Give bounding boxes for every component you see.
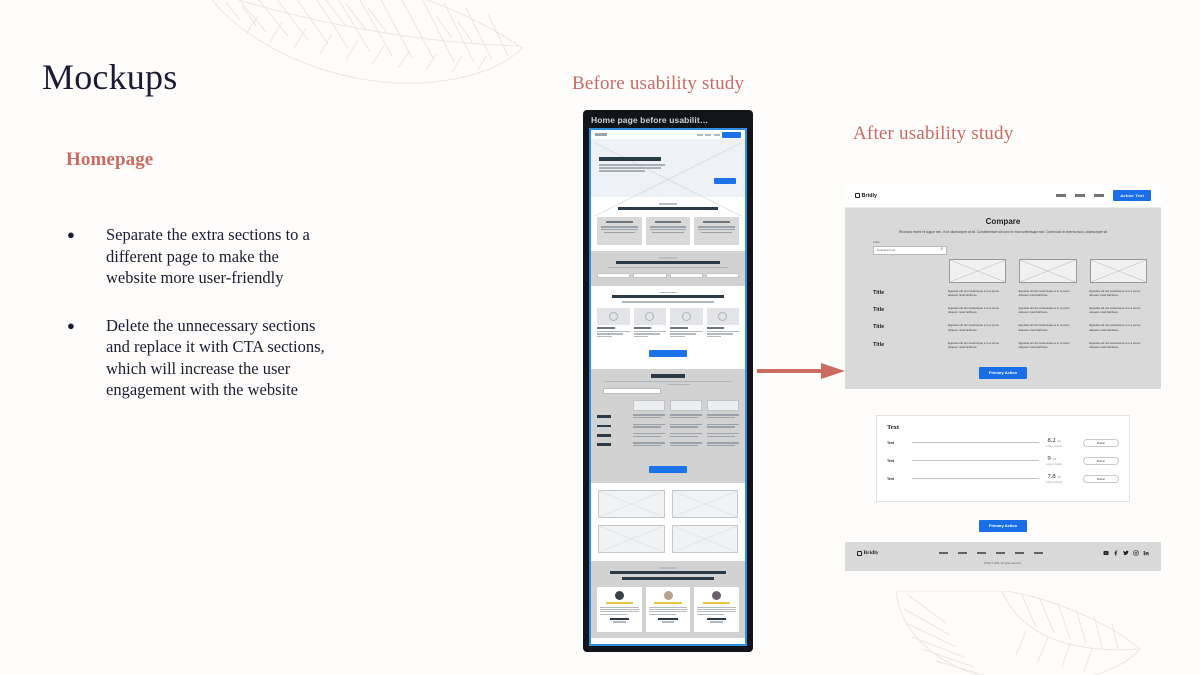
stat-row: Text 8.2/10 subject statistic Button <box>887 437 1119 448</box>
after-footer: Bridly Bridly © 2021. All rights reserve… <box>845 542 1161 571</box>
leaf-decoration-bottom <box>876 591 1156 675</box>
after-nav-bar: Bridly Action Text <box>845 184 1161 208</box>
stat-button[interactable]: Button <box>1083 475 1119 483</box>
footer-link[interactable] <box>977 552 986 555</box>
wf-compare-image <box>707 400 739 411</box>
list-item: ● Delete the unnecessary sections and re… <box>60 315 390 401</box>
table-cell: Egestas elit dui scelerisque a in a puru… <box>1089 323 1147 331</box>
section-gap <box>845 389 1161 415</box>
wf-cta-section <box>591 638 745 646</box>
after-nav-link[interactable] <box>1056 194 1066 197</box>
after-nav-link[interactable] <box>1075 194 1085 197</box>
wf-icon-cards <box>591 304 745 340</box>
table-row: Title Egestas elit dui scelerisque a in … <box>873 323 1147 331</box>
wf-feature-card <box>646 217 691 245</box>
footer-link[interactable] <box>1034 552 1043 555</box>
stat-unit: /10 <box>1057 439 1061 443</box>
twitter-icon[interactable] <box>1123 550 1129 556</box>
stat-value: 9 <box>1048 455 1051 462</box>
after-nav-cta-button[interactable]: Action Text <box>1113 190 1151 201</box>
footer-link[interactable] <box>1015 552 1024 555</box>
phone-screen <box>589 128 747 646</box>
chevron-updown-icon: ⇵ <box>940 248 943 252</box>
table-cell: Egestas elit dui scelerisque a in a puru… <box>1019 341 1077 349</box>
wf-testimonials-section <box>591 561 745 638</box>
after-nav-right: Action Text <box>1056 190 1151 201</box>
wf-icon-card <box>634 308 667 338</box>
table-cell: Egestas elit dui scelerisque a in a puru… <box>1019 289 1077 297</box>
table-cell: Egestas elit dui scelerisque a in a puru… <box>948 341 1006 349</box>
wf-testimonial-card <box>694 587 739 632</box>
wf-icon-card <box>707 308 740 338</box>
after-footer-social <box>1103 550 1149 556</box>
rating-stars-icon <box>606 602 633 604</box>
table-cell: Egestas elit dui scelerisque a in a puru… <box>1089 341 1147 349</box>
stat-divider <box>912 442 1039 443</box>
compare-select-group: Label Dropdown text ⇵ <box>845 235 1161 255</box>
wf-compare-image <box>670 400 702 411</box>
phone-window-title: Home page before usabilit… <box>586 113 750 128</box>
wf-feature-cards <box>591 213 745 251</box>
wf-image-placeholder <box>672 490 739 518</box>
table-row <box>597 433 739 438</box>
stat-value: 7.8 <box>1048 473 1056 480</box>
stat-value-group: 8.2/10 subject statistic <box>1046 437 1076 448</box>
stat-row: Text 9/10 subject statistic Button <box>887 455 1119 466</box>
bullet-list: ● Separate the extra sections to a diffe… <box>60 224 390 427</box>
stat-unit: /10 <box>1052 457 1056 461</box>
section-subtitle: Homepage <box>66 149 153 171</box>
table-cell: Egestas elit dui scelerisque a in a puru… <box>1089 306 1147 314</box>
stat-label: Text <box>887 459 905 463</box>
stats-card-heading: Text <box>887 424 1119 431</box>
compare-dropdown[interactable]: Dropdown text ⇵ <box>873 246 947 255</box>
wf-nav-link[interactable] <box>705 134 711 136</box>
leaf-decoration-top <box>196 0 536 98</box>
bottom-primary-action-button[interactable]: Primary Action <box>979 520 1027 532</box>
avatar <box>664 591 673 600</box>
after-stats-card: Text Text 8.2/10 subject statistic Butto… <box>876 415 1130 502</box>
compare-select-label: Label <box>873 241 1161 244</box>
wf-image-placeholder <box>672 525 739 553</box>
stat-row: Text 7.8/10 subject statistic Button <box>887 473 1119 484</box>
label-before-usability-study: Before usability study <box>572 73 744 95</box>
table-cell: Egestas elit dui scelerisque a in a puru… <box>1089 289 1147 297</box>
wf-primary-button[interactable] <box>649 350 687 357</box>
bullet-dot-icon: ● <box>60 224 78 289</box>
stat-value: 8.2 <box>1048 437 1056 444</box>
table-cell: Egestas elit dui scelerisque a in a puru… <box>948 306 1006 314</box>
stat-divider <box>912 460 1039 461</box>
wf-nav-links <box>697 132 742 138</box>
compare-image-placeholder <box>1019 259 1076 283</box>
wf-image-grid-section <box>591 483 745 561</box>
wf-compare-table <box>591 400 745 456</box>
rating-stars-icon <box>654 602 681 604</box>
stat-button[interactable]: Button <box>1083 457 1119 465</box>
stat-label: Text <box>887 441 905 445</box>
wf-compare-primary-button[interactable] <box>649 466 687 473</box>
table-row: Title Egestas elit dui scelerisque a in … <box>873 289 1147 297</box>
facebook-icon[interactable] <box>1113 550 1119 556</box>
compare-table: Title Egestas elit dui scelerisque a in … <box>845 283 1161 350</box>
wf-form-input[interactable] <box>706 273 739 278</box>
row-title: Title <box>873 341 935 348</box>
linkedin-icon[interactable] <box>1143 550 1149 556</box>
wf-feature-card <box>694 217 739 245</box>
footer-link[interactable] <box>939 552 948 555</box>
wf-form-input[interactable] <box>633 273 666 278</box>
wf-nav-link[interactable] <box>697 134 703 136</box>
wf-form-heading <box>616 261 720 264</box>
list-item: ● Separate the extra sections to a diffe… <box>60 224 390 289</box>
wf-placeholder-icon <box>682 312 691 321</box>
avatar <box>712 591 721 600</box>
wf-feature-card <box>597 217 642 245</box>
after-footer-logo[interactable]: Bridly <box>857 550 878 556</box>
wf-form-section <box>591 251 745 286</box>
table-cell: Egestas elit dui scelerisque a in a puru… <box>948 323 1006 331</box>
after-compare-section: Compare Rhoncus morbi et augue nec, in i… <box>845 208 1161 389</box>
wf-placeholder-icon <box>718 312 727 321</box>
after-nav-logo[interactable]: Bridly <box>855 193 877 199</box>
wf-form-input[interactable] <box>670 273 703 278</box>
wf-icongrid-heading <box>612 295 724 298</box>
label-after-usability-study: After usability study <box>853 123 1013 145</box>
row-title: Title <box>873 323 935 330</box>
row-title: Title <box>873 289 935 296</box>
rating-stars-icon <box>703 602 730 604</box>
wf-placeholder-icon <box>645 312 654 321</box>
avatar <box>615 591 624 600</box>
after-nav-logo-text: Bridly <box>862 193 878 199</box>
wf-hero-copy <box>599 157 669 174</box>
brand-mark-icon <box>855 193 860 198</box>
stat-button[interactable]: Button <box>1083 439 1119 447</box>
table-row: Title Egestas elit dui scelerisque a in … <box>873 341 1147 349</box>
footer-link[interactable] <box>958 552 967 555</box>
wf-testimonial-card <box>597 587 642 632</box>
wf-icongrid-section <box>591 286 745 370</box>
wf-icon-card <box>670 308 703 338</box>
compare-image-placeholder <box>1090 259 1147 283</box>
stat-unit: /10 <box>1057 475 1061 479</box>
wf-hero-cta-button[interactable] <box>714 178 736 184</box>
wf-form-inputs <box>591 270 745 284</box>
wf-image-placeholder <box>598 525 665 553</box>
wf-icon-card <box>597 308 630 338</box>
compare-image-row <box>845 255 1161 283</box>
wf-nav-cta-button[interactable] <box>722 132 741 138</box>
compare-image-placeholder <box>949 259 1006 283</box>
bullet-text: Delete the unnecessary sections and repl… <box>78 315 328 401</box>
stat-value-group: 9/10 subject statistic <box>1046 455 1076 466</box>
table-cell: Egestas elit dui scelerisque a in a puru… <box>948 289 1006 297</box>
wf-compare-heading <box>651 374 685 377</box>
wf-form-input[interactable] <box>597 273 630 278</box>
stat-divider <box>912 478 1039 479</box>
bullet-text: Separate the extra sections to a differe… <box>78 224 328 289</box>
table-row <box>597 424 739 429</box>
wf-nav <box>591 130 745 139</box>
flow-arrow-icon <box>757 361 847 381</box>
wf-testimonial-cards <box>591 583 745 638</box>
compare-primary-action-button[interactable]: Primary Action <box>979 367 1027 379</box>
after-mockup-desktop: Bridly Action Text Compare Rhoncus morbi… <box>845 184 1161 571</box>
bullet-dot-icon: ● <box>60 315 78 401</box>
after-nav-link[interactable] <box>1094 194 1104 197</box>
wf-compare-image <box>633 400 665 411</box>
wf-placeholder-icon <box>609 312 618 321</box>
after-footer-links <box>939 552 1043 555</box>
stat-sub: subject statistic <box>1046 463 1076 466</box>
wf-compare-section <box>591 369 745 482</box>
wf-hero-heading <box>599 157 661 161</box>
compare-heading: Compare <box>845 217 1161 226</box>
compare-dropdown-value: Dropdown text <box>877 248 895 252</box>
wf-testimonial-card <box>646 587 691 632</box>
youtube-icon[interactable] <box>1103 550 1109 556</box>
table-row <box>597 414 739 419</box>
wf-image-placeholder <box>598 490 665 518</box>
footer-link[interactable] <box>996 552 1005 555</box>
row-title: Title <box>873 306 935 313</box>
wf-hero-section <box>591 139 745 197</box>
stat-value-group: 7.8/10 subject statistic <box>1046 473 1076 484</box>
after-footer-logo-text: Bridly <box>864 550 879 556</box>
stat-label: Text <box>887 477 905 481</box>
table-cell: Egestas elit dui scelerisque a in a puru… <box>1019 306 1077 314</box>
stat-sub: subject statistic <box>1046 445 1076 448</box>
wf-nav-link[interactable] <box>714 134 720 136</box>
before-mockup-phone-frame: Home page before usabilit… <box>583 110 753 652</box>
table-cell: Egestas elit dui scelerisque a in a puru… <box>1019 323 1077 331</box>
table-row: Title Egestas elit dui scelerisque a in … <box>873 306 1147 314</box>
instagram-icon[interactable] <box>1133 550 1139 556</box>
page-title: Mockups <box>42 56 177 98</box>
after-footer-copyright: Bridly © 2021. All rights reserved. <box>857 562 1149 565</box>
wf-logo <box>595 133 607 136</box>
table-row <box>597 442 739 447</box>
wf-compare-dropdown[interactable] <box>603 388 661 394</box>
brand-mark-icon <box>857 551 862 556</box>
stat-sub: subject statistic <box>1046 481 1076 484</box>
